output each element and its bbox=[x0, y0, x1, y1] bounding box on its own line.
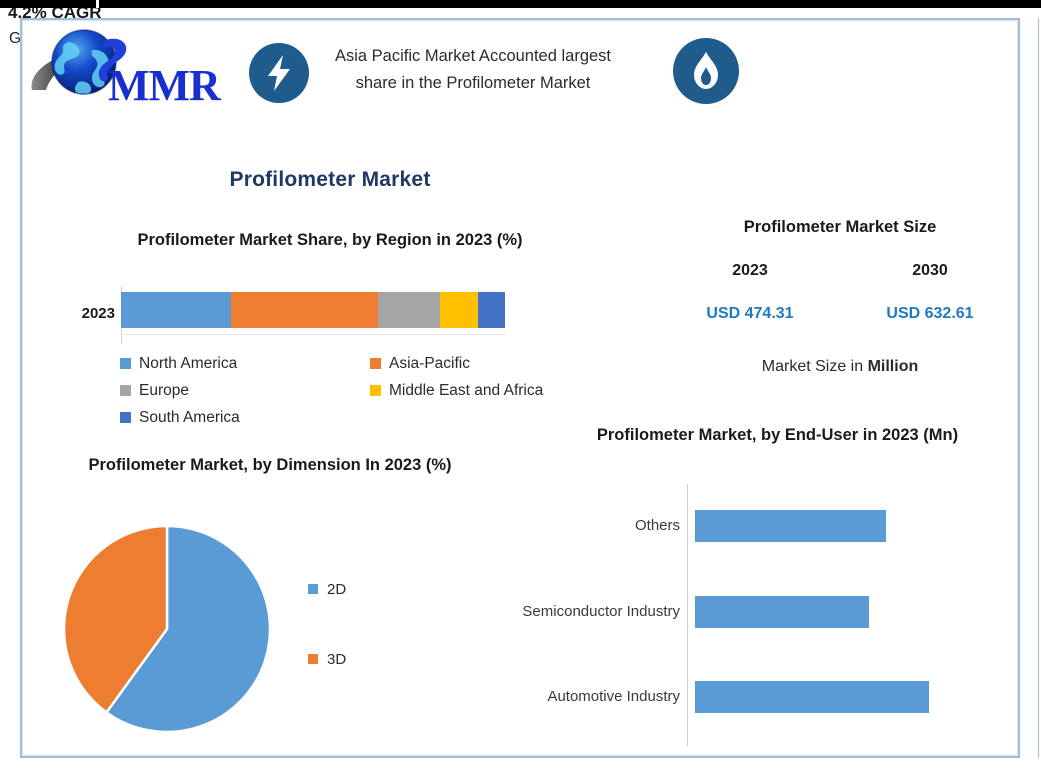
end-user-bar bbox=[695, 596, 869, 628]
region-share-stacked-bar bbox=[121, 292, 505, 328]
infographic-canvas: MMR Asia Pacific Market Accounted larges… bbox=[0, 0, 1041, 779]
pie-legend-item: 3D bbox=[308, 648, 428, 670]
market-size-unit-prefix: Market Size in bbox=[762, 358, 868, 375]
region-segment-middle-east-and-africa bbox=[440, 292, 478, 328]
market-size-unit-note: Market Size in Million bbox=[660, 358, 1020, 376]
legend-item: Europe bbox=[120, 377, 370, 404]
legend-swatch bbox=[120, 385, 131, 396]
legend-label: Asia-Pacific bbox=[389, 355, 470, 373]
end-user-category-label: Automotive Industry bbox=[520, 686, 688, 708]
region-share-baseline bbox=[121, 334, 505, 335]
region-segment-europe bbox=[378, 292, 440, 328]
end-user-bar-row: Automotive Industry bbox=[520, 677, 1020, 717]
region-share-chart: 2023 bbox=[60, 286, 530, 344]
market-size-unit-value: Million bbox=[868, 358, 919, 375]
legend-label: South America bbox=[139, 409, 240, 427]
legend-swatch bbox=[120, 358, 131, 369]
region-segment-north-america bbox=[121, 292, 231, 328]
market-size-value-2023: USD 474.31 bbox=[660, 305, 840, 323]
end-user-bar-rows: OthersSemiconductor IndustryAutomotive I… bbox=[520, 484, 1020, 746]
page-title: Profilometer Market bbox=[20, 168, 640, 192]
end-user-bar-row: Semiconductor Industry bbox=[520, 592, 1020, 632]
end-user-chart-title: Profilometer Market, by End-User in 2023… bbox=[525, 420, 1030, 450]
svg-text:MMR: MMR bbox=[108, 61, 222, 108]
market-size-year-2023: 2023 bbox=[660, 262, 840, 280]
legend-label: Middle East and Africa bbox=[389, 382, 543, 400]
legend-swatch bbox=[370, 358, 381, 369]
dimension-chart-title: Profilometer Market, by Dimension In 202… bbox=[55, 450, 485, 480]
region-segment-asia-pacific bbox=[231, 292, 378, 328]
end-user-bar bbox=[695, 681, 929, 713]
legend-label: North America bbox=[139, 355, 237, 373]
end-user-bar-row: Others bbox=[520, 506, 1020, 546]
dimension-pie-legend: 2D3D bbox=[308, 578, 428, 670]
top-black-strip bbox=[0, 0, 1041, 8]
flame-icon bbox=[673, 38, 739, 104]
market-size-years: 2023 2030 bbox=[660, 262, 1020, 280]
legend-swatch bbox=[370, 385, 381, 396]
region-share-legend: North AmericaAsia-PacificEuropeMiddle Ea… bbox=[120, 350, 620, 431]
market-size-year-2030: 2030 bbox=[840, 262, 1020, 280]
region-share-category-label: 2023 bbox=[60, 305, 115, 322]
region-share-chart-title: Profilometer Market Share, by Region in … bbox=[25, 225, 635, 255]
end-user-category-label: Others bbox=[520, 515, 688, 537]
pie-legend-label: 3D bbox=[327, 651, 346, 668]
end-user-chart: OthersSemiconductor IndustryAutomotive I… bbox=[520, 484, 1020, 746]
pie-legend-label: 2D bbox=[327, 581, 346, 598]
end-user-category-label: Semiconductor Industry bbox=[520, 601, 688, 623]
dimension-pie-chart bbox=[42, 524, 292, 734]
asia-pacific-note: Asia Pacific Market Accounted largest sh… bbox=[318, 43, 628, 97]
legend-item: Middle East and Africa bbox=[370, 377, 620, 404]
market-size-values: USD 474.31 USD 632.61 bbox=[660, 305, 1020, 323]
top-strip-notch bbox=[96, 0, 99, 8]
legend-item: South America bbox=[120, 404, 370, 431]
legend-label: Europe bbox=[139, 382, 189, 400]
mmr-logo: MMR bbox=[26, 20, 222, 108]
legend-item: Asia-Pacific bbox=[370, 350, 620, 377]
legend-item: North America bbox=[120, 350, 370, 377]
end-user-bar bbox=[695, 510, 886, 542]
legend-swatch bbox=[120, 412, 131, 423]
market-size-value-2030: USD 632.61 bbox=[840, 305, 1020, 323]
region-segment-south-america bbox=[478, 292, 505, 328]
pie-legend-swatch bbox=[308, 584, 318, 594]
pie-legend-item: 2D bbox=[308, 578, 428, 600]
bolt-icon bbox=[249, 43, 309, 103]
panel-right-edge bbox=[1038, 18, 1039, 758]
pie-legend-swatch bbox=[308, 654, 318, 664]
market-size-title: Profilometer Market Size bbox=[660, 218, 1020, 237]
